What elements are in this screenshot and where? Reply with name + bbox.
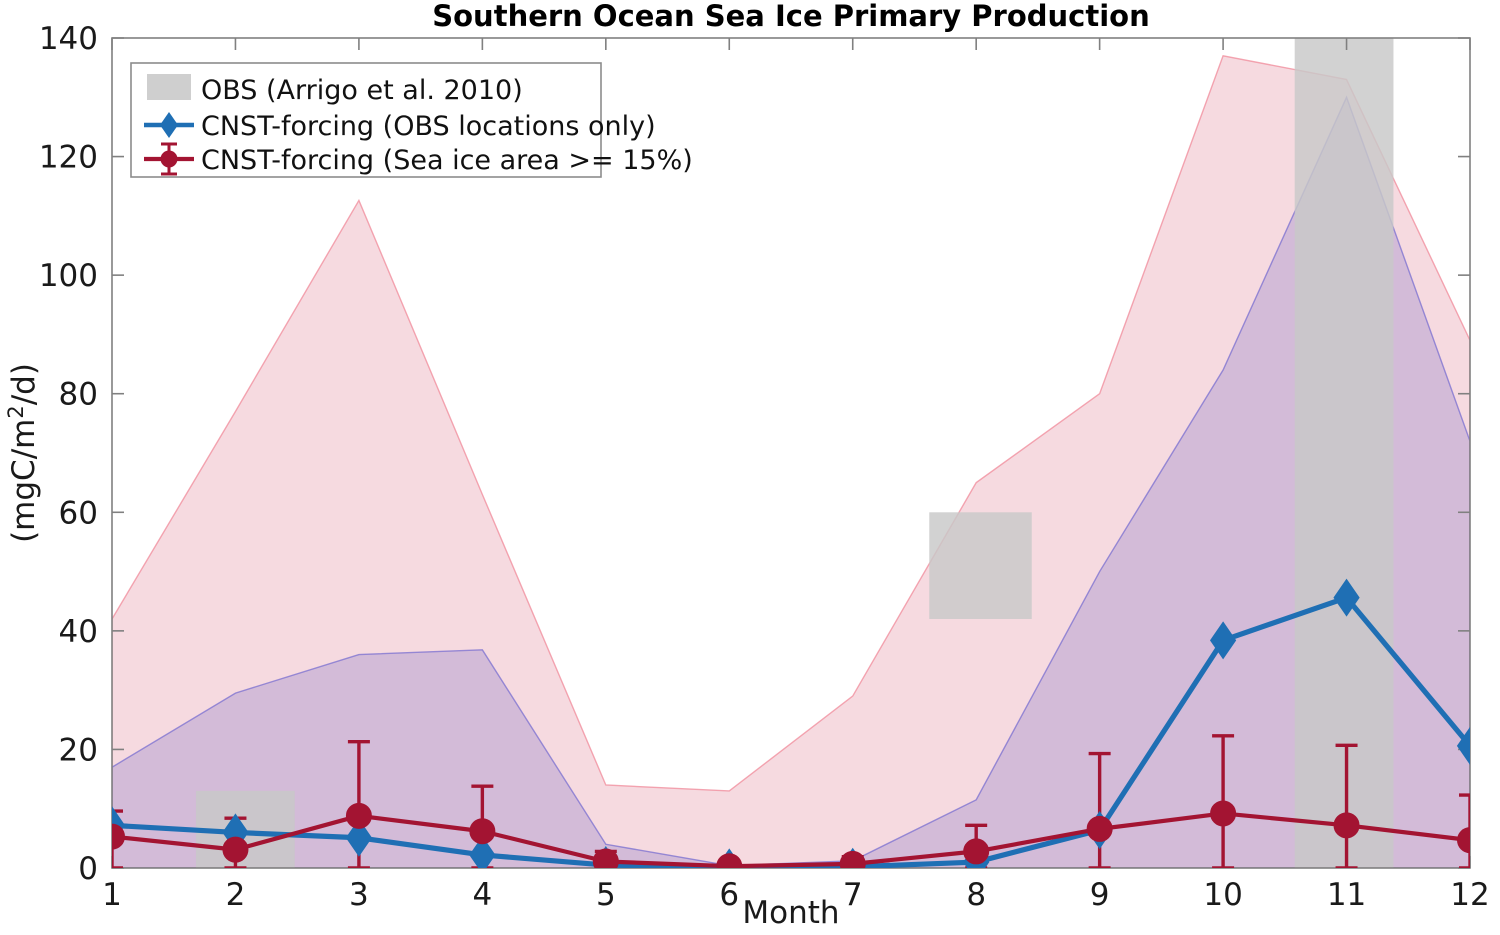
y-axis-title-superscript: 2 bbox=[4, 405, 28, 418]
obs-box-2 bbox=[929, 512, 1031, 619]
marker-red-month-9 bbox=[1087, 816, 1112, 841]
x-tick-label-5: 5 bbox=[596, 877, 616, 913]
x-tick-label-10: 10 bbox=[1203, 877, 1242, 913]
chart-root: 020406080100120140123456789101112Souther… bbox=[0, 0, 1500, 935]
legend-item-1[interactable]: OBS (Arrigo et al. 2010) bbox=[147, 74, 523, 106]
x-tick-label-7: 7 bbox=[843, 877, 863, 913]
marker-red-month-7 bbox=[840, 851, 865, 876]
x-tick-label-1: 1 bbox=[102, 877, 122, 913]
y-tick-label-100: 100 bbox=[39, 258, 98, 294]
marker-red-month-11 bbox=[1334, 813, 1359, 838]
y-tick-label-0: 0 bbox=[78, 851, 98, 887]
marker-red-month-8 bbox=[964, 839, 989, 864]
x-tick-label-8: 8 bbox=[966, 877, 986, 913]
legend-item-3[interactable]: CNST-forcing (Sea ice area >= 15%) bbox=[144, 144, 693, 176]
y-axis-title-post: /d) bbox=[6, 363, 42, 405]
chart-title: Southern Ocean Sea Ice Primary Productio… bbox=[432, 0, 1150, 33]
y-tick-label-140: 140 bbox=[39, 21, 98, 57]
legend-label-2: CNST-forcing (OBS locations only) bbox=[201, 111, 656, 142]
legend-item-2[interactable]: CNST-forcing (OBS locations only) bbox=[144, 111, 656, 142]
x-tick-label-2: 2 bbox=[226, 877, 246, 913]
x-tick-label-3: 3 bbox=[349, 877, 369, 913]
marker-red-month-5 bbox=[593, 849, 618, 874]
x-tick-label-9: 9 bbox=[1090, 877, 1110, 913]
marker-red-month-10 bbox=[1211, 801, 1236, 826]
legend-label-1: OBS (Arrigo et al. 2010) bbox=[201, 75, 523, 106]
legend-marker-circle bbox=[161, 151, 178, 168]
y-axis-title: (mgC/m2/d) bbox=[4, 363, 42, 543]
legend-label-3: CNST-forcing (Sea ice area >= 15%) bbox=[201, 145, 693, 176]
marker-red-month-3 bbox=[346, 803, 371, 828]
legend-swatch-obs bbox=[147, 74, 191, 100]
x-tick-label-6: 6 bbox=[719, 877, 739, 913]
x-tick-label-4: 4 bbox=[472, 877, 492, 913]
y-tick-label-60: 60 bbox=[59, 495, 98, 531]
primary-production-chart: 020406080100120140123456789101112Souther… bbox=[0, 0, 1500, 935]
x-tick-label-11: 11 bbox=[1327, 877, 1366, 913]
marker-red-month-12 bbox=[1458, 828, 1483, 853]
obs-box-3 bbox=[1295, 38, 1394, 868]
marker-red-month-4 bbox=[470, 819, 495, 844]
x-axis-title: Month bbox=[742, 895, 839, 931]
y-tick-label-120: 120 bbox=[39, 140, 98, 176]
y-tick-label-40: 40 bbox=[59, 614, 98, 650]
y-axis-title-pre: (mgC/m bbox=[6, 419, 42, 543]
marker-red-month-6 bbox=[717, 854, 742, 879]
x-tick-label-12: 12 bbox=[1450, 877, 1489, 913]
marker-red-month-1 bbox=[100, 824, 125, 849]
chart-legend: OBS (Arrigo et al. 2010)CNST-forcing (OB… bbox=[131, 63, 693, 177]
y-tick-label-80: 80 bbox=[59, 377, 98, 413]
y-tick-label-20: 20 bbox=[59, 732, 98, 768]
marker-red-month-2 bbox=[223, 837, 248, 862]
